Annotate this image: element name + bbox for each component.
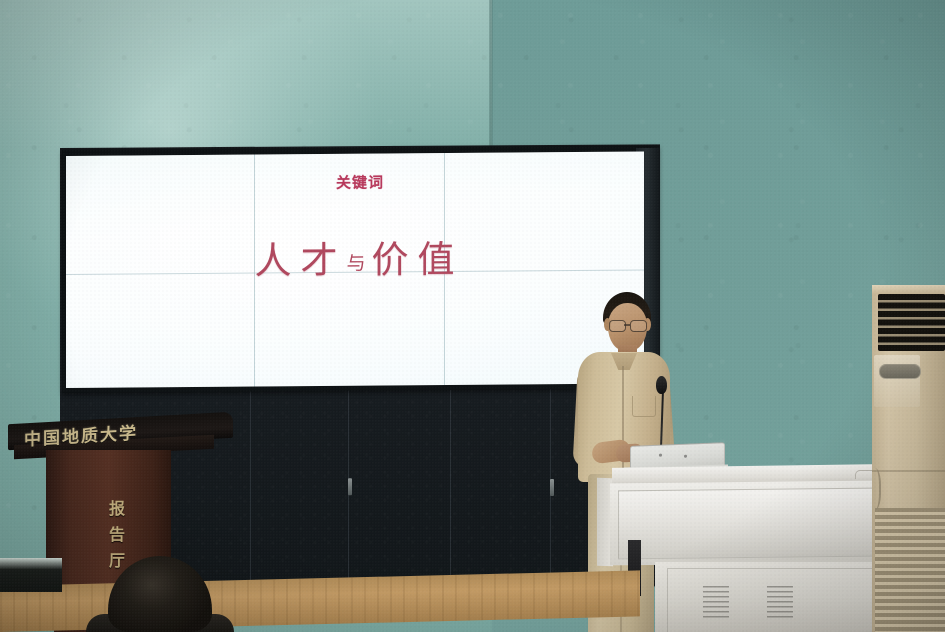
slide-heading: 关键词	[66, 169, 644, 195]
panel-seam	[450, 378, 451, 588]
lecture-hall-photo: 关键词 人才与价值 中国地质大学 报告厅	[0, 0, 945, 632]
air-conditioner-badge	[879, 364, 921, 379]
glasses-lens-right	[630, 320, 647, 332]
air-conditioner-seam	[872, 470, 945, 472]
cabinet-door-panel[interactable]	[618, 488, 874, 560]
laptop-hinge-dot	[659, 454, 662, 457]
video-wall-screen[interactable]: 关键词 人才与价值	[66, 151, 644, 388]
slide-term-right: 价值	[372, 238, 464, 282]
slide-main-line: 人才与价值	[66, 227, 644, 286]
cabinet-vent-left	[703, 586, 729, 620]
panel-latch[interactable]	[550, 479, 554, 496]
cabinet-front[interactable]	[610, 481, 882, 566]
baseboard	[0, 558, 62, 592]
glasses-lens-left	[609, 320, 626, 332]
panel-seam	[250, 379, 251, 589]
presenter-shirt-pocket	[632, 396, 656, 417]
cabinet-lower-body	[655, 562, 887, 632]
slide-conjunction: 与	[346, 253, 371, 275]
microphone-head-icon[interactable]	[656, 376, 667, 394]
air-conditioner-logo-plate	[874, 355, 920, 407]
panel-latch[interactable]	[348, 478, 352, 495]
air-conditioner-lower-grille	[875, 508, 945, 632]
laptop-hinge-dot	[684, 455, 687, 458]
glasses-bridge	[624, 324, 630, 326]
cabinet-vent-right	[767, 586, 793, 620]
air-conditioner-top-frame	[872, 285, 945, 294]
ceiling-light-wash	[0, 0, 492, 150]
air-conditioner-cable	[866, 468, 881, 510]
air-conditioner-upper-grille	[878, 294, 945, 351]
slide-term-left: 人才	[254, 239, 346, 283]
podium-hall-nameplate: 报告厅	[104, 500, 130, 578]
